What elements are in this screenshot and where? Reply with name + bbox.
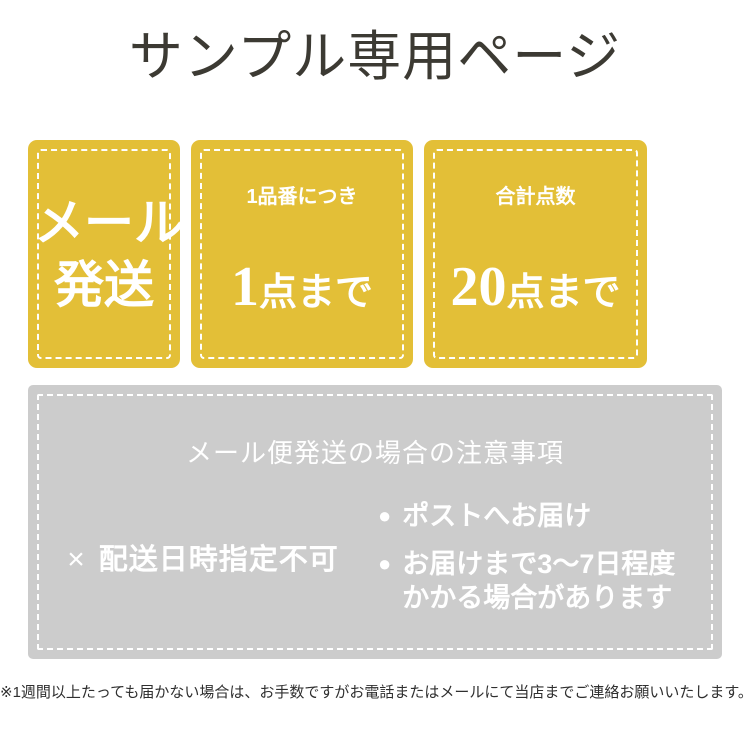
cross-icon: × (67, 545, 85, 575)
list-item-text: ポストへお届け (402, 499, 591, 533)
card-total-amount-line: 20点まで (430, 257, 641, 323)
no-date-designation-row: × 配送日時指定不可 (28, 495, 378, 625)
card-mail-delivery: メール便 発送 (28, 140, 180, 368)
list-item: ● ポストへお届け (378, 499, 722, 533)
card-total-caption: 合計点数 (430, 185, 641, 209)
card-mail-delivery-content: メール便 発送 (28, 192, 180, 316)
card-per-item-limit-content: 1品番につき 1点まで (191, 185, 413, 323)
list-item-text: お届けまで3〜7日程度 かかる場合があります (402, 547, 675, 615)
notice-bullet-list: ● ポストへお届け ● お届けまで3〜7日程度 かかる場合があります (378, 495, 722, 629)
list-item: ● お届けまで3〜7日程度 かかる場合があります (378, 547, 722, 615)
card-mail-delivery-line1: メール便 (34, 192, 174, 254)
notice-panel: メール便発送の場合の注意事項 × 配送日時指定不可 ● ポストへお届け ● お届… (28, 385, 722, 659)
card-total-unit: 点まで (506, 272, 620, 314)
card-total-amount: 20 (450, 256, 506, 318)
card-total-limit-content: 合計点数 20点まで (424, 185, 647, 323)
footer-note: ※1週間以上たっても届かない場合は、お手数ですがお電話またはメールにて当店までご… (0, 682, 750, 704)
notice-body: × 配送日時指定不可 ● ポストへお届け ● お届けまで3〜7日程度 かかる場合… (28, 495, 722, 645)
list-item-line1: ポストへお届け (402, 501, 591, 531)
card-mail-delivery-line2: 発送 (34, 254, 174, 316)
bullet-dot-icon: ● (378, 499, 391, 533)
card-per-item-spacer (197, 209, 407, 257)
card-per-item-caption: 1品番につき (197, 185, 407, 209)
card-per-item-unit: 点まで (259, 272, 373, 314)
list-item-line2: かかる場合があります (402, 581, 675, 615)
card-per-item-amount: 1 (231, 256, 259, 318)
bullet-dot-icon: ● (378, 547, 391, 581)
card-total-spacer (430, 209, 641, 257)
shipping-cards-row: メール便 発送 1品番につき 1点まで 合計点数 20点まで (28, 140, 722, 368)
card-per-item-amount-line: 1点まで (197, 257, 407, 323)
card-total-limit: 合計点数 20点まで (424, 140, 647, 368)
card-per-item-limit: 1品番につき 1点まで (191, 140, 413, 368)
no-date-designation-label: 配送日時指定不可 (99, 544, 339, 576)
notice-heading: メール便発送の場合の注意事項 (28, 437, 722, 469)
page-title: サンプル専用ページ (0, 26, 750, 88)
list-item-line1: お届けまで3〜7日程度 (402, 549, 675, 579)
